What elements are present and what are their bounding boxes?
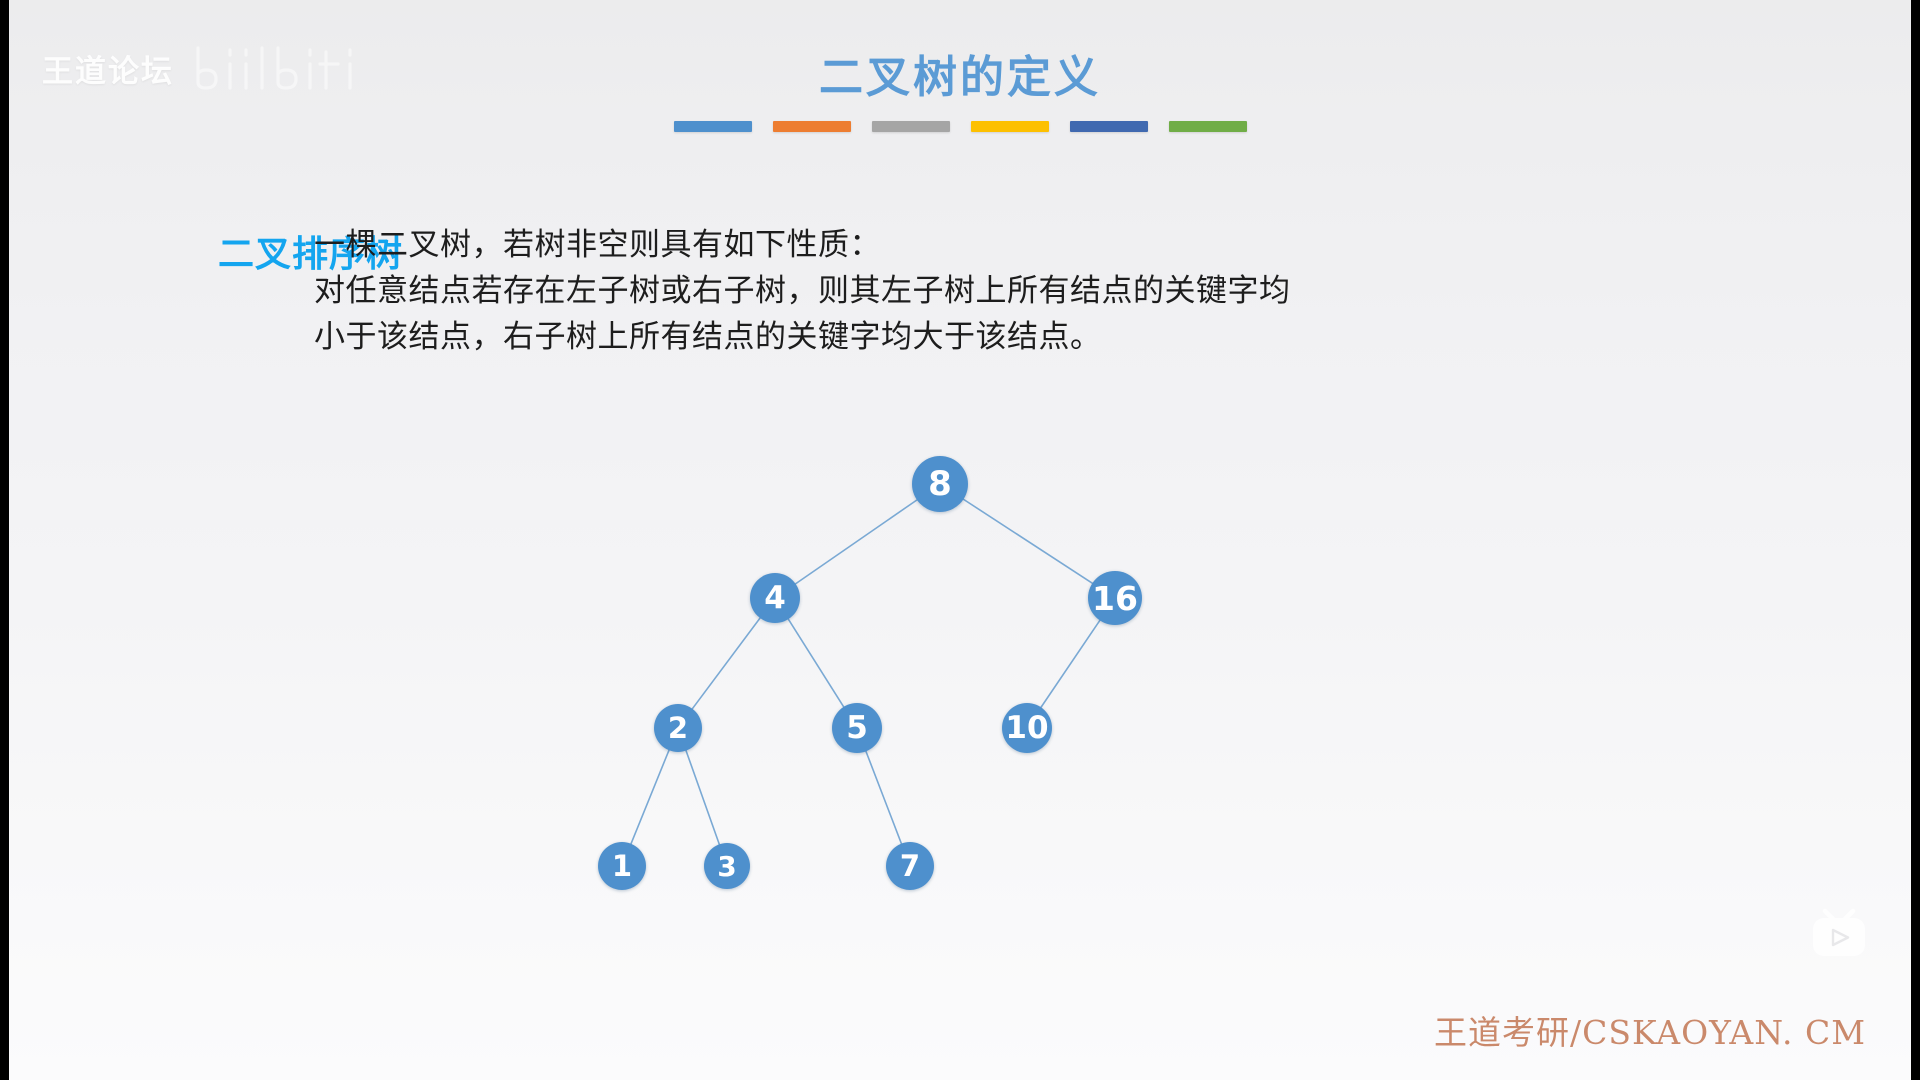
left-edge-bar: [0, 0, 9, 1080]
definition-line-2: 对任意结点若存在左子树或右子树，则其左子树上所有结点的关键字均: [314, 268, 1920, 314]
accent-bar-blue: [674, 121, 752, 132]
tree-node-4: 4: [750, 573, 800, 623]
tree-edge-n2-n1: [631, 749, 670, 844]
tree-edge-layer: [0, 0, 1920, 1080]
definition-line-1: 一棵二叉树，若树非空则具有如下性质：: [314, 222, 1920, 268]
tree-node-10: 10: [1002, 703, 1052, 753]
accent-bar-orange: [773, 121, 851, 132]
definition-paragraph: 一棵二叉树，若树非空则具有如下性质： 对任意结点若存在左子树或右子树，则其左子树…: [300, 222, 1920, 360]
tree-edge-n8-n4: [795, 499, 918, 584]
accent-bar-gray: [872, 121, 950, 132]
footer-brand: 王道考研/CSKAOYAN. CM: [1434, 1006, 1866, 1054]
accent-bar-green: [1169, 121, 1247, 132]
content-section: 二叉排序树 一棵二叉树，若树非空则具有如下性质： 对任意结点若存在左子树或右子树…: [0, 222, 1920, 360]
right-edge-bar: [1911, 0, 1920, 1080]
accent-bar-yellow: [971, 121, 1049, 132]
tree-node-2: 2: [654, 704, 702, 752]
tree-edge-n5-n7: [866, 750, 902, 844]
tree-node-7: 7: [886, 842, 934, 890]
tree-node-1: 1: [598, 842, 646, 890]
definition-line-3: 小于该结点，右子树上所有结点的关键字均大于该结点。: [314, 314, 1920, 360]
tree-node-8: 8: [912, 456, 968, 512]
accent-bar-dark-blue: [1070, 121, 1148, 132]
tree-edge-n4-n2: [692, 617, 761, 709]
bilibili-logo-icon: [190, 42, 366, 94]
section-heading: 二叉排序树: [0, 232, 300, 277]
tree-node-5: 5: [832, 703, 882, 753]
watermark: 王道论坛: [42, 42, 366, 94]
watermark-label: 王道论坛: [42, 46, 174, 91]
tree-edge-n4-n5: [788, 618, 844, 707]
tree-edge-n2-n3: [686, 750, 720, 846]
binary-search-tree-diagram: 84162510137: [0, 0, 1920, 1080]
tree-edge-n8-n16: [963, 499, 1094, 584]
tree-edge-n16-n10: [1040, 620, 1100, 709]
title-accent-bars: [0, 121, 1920, 132]
slide-canvas: 王道论坛: [0, 0, 1920, 1080]
bilibili-tv-play-icon[interactable]: [1806, 905, 1872, 963]
tree-node-16: 16: [1088, 571, 1142, 625]
tree-node-3: 3: [704, 843, 750, 889]
